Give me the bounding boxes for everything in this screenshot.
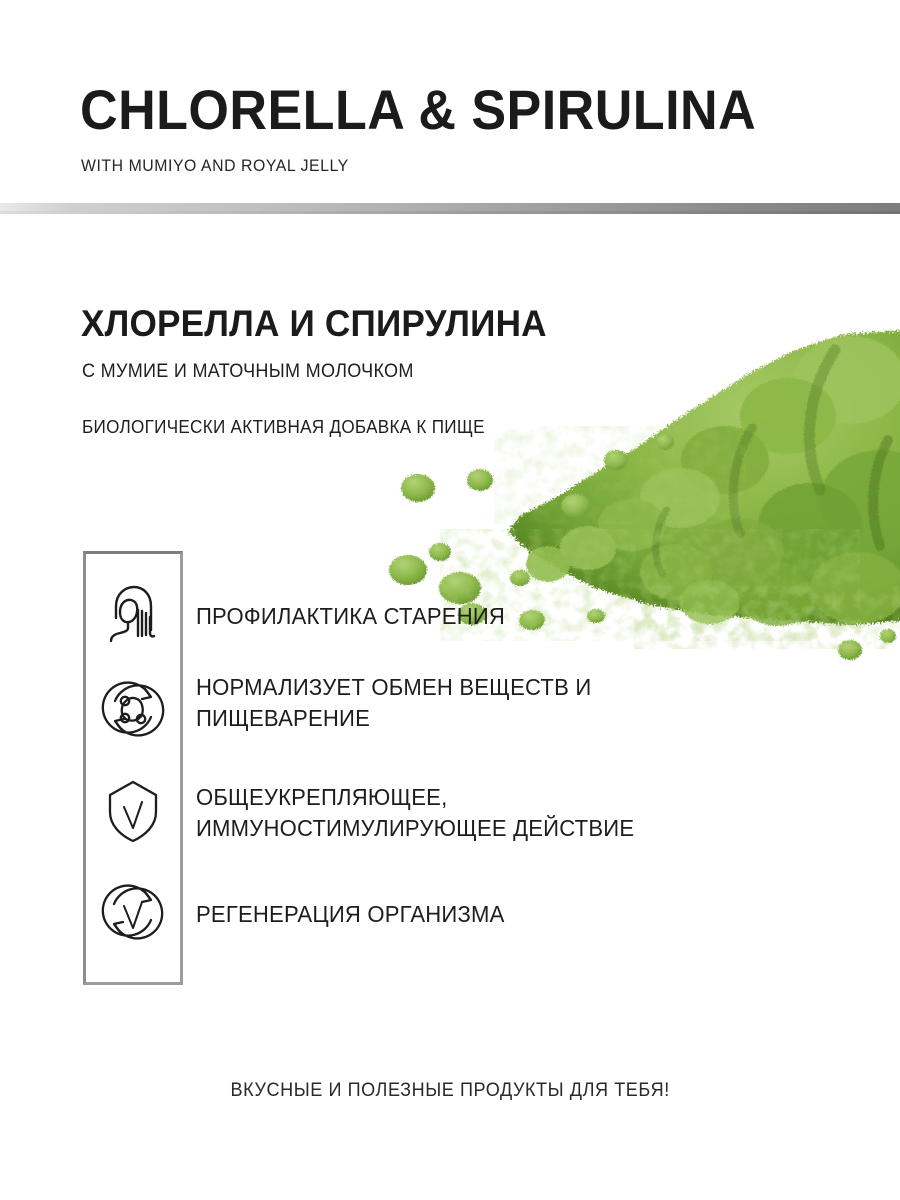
- benefit-label: РЕГЕНЕРАЦИЯ ОРГАНИЗМА: [196, 899, 504, 930]
- benefit-label: ОБЩЕУКРЕПЛЯЮЩЕЕ, ИММУНОСТИМУЛИРУЮЩЕЕ ДЕЙ…: [196, 782, 634, 844]
- product-title: ХЛОРЕЛЛА И СПИРУЛИНА: [81, 305, 547, 342]
- product-note: БИОЛОГИЧЕСКИ АКТИВНАЯ ДОБАВКА К ПИЩЕ: [82, 418, 485, 436]
- metabolism-cycle-icon: [98, 674, 168, 744]
- banner-header: CHLORELLA & SPIRULINA WITH MUMIYO AND RO…: [0, 0, 900, 210]
- shield-check-icon: [98, 776, 168, 846]
- regeneration-check-icon: [98, 878, 168, 948]
- benefit-label: ПРОФИЛАКТИКА СТАРЕНИЯ: [196, 601, 505, 632]
- aging-face-icon: [98, 580, 168, 650]
- header-divider: [0, 203, 900, 214]
- product-subtitle: С МУМИЕ И МАТОЧНЫМ МОЛОЧКОМ: [82, 362, 414, 381]
- footer-tagline-text: ВКУСНЫЕ И ПОЛЕЗНЫЕ ПРОДУКТЫ ДЛЯ ТЕБЯ!: [230, 1080, 669, 1102]
- product-banner: CHLORELLA & SPIRULINA WITH MUMIYO AND RO…: [0, 0, 900, 1200]
- page-subtitle: WITH MUMIYO AND ROYAL JELLY: [81, 157, 349, 174]
- footer-tagline: ВКУСНЫЕ И ПОЛЕЗНЫЕ ПРОДУКТЫ ДЛЯ ТЕБЯ!: [0, 1080, 900, 1102]
- page-title: CHLORELLA & SPIRULINA: [80, 82, 756, 138]
- benefit-label: НОРМАЛИЗУЕТ ОБМЕН ВЕЩЕСТВ И ПИЩЕВАРЕНИЕ: [196, 672, 591, 734]
